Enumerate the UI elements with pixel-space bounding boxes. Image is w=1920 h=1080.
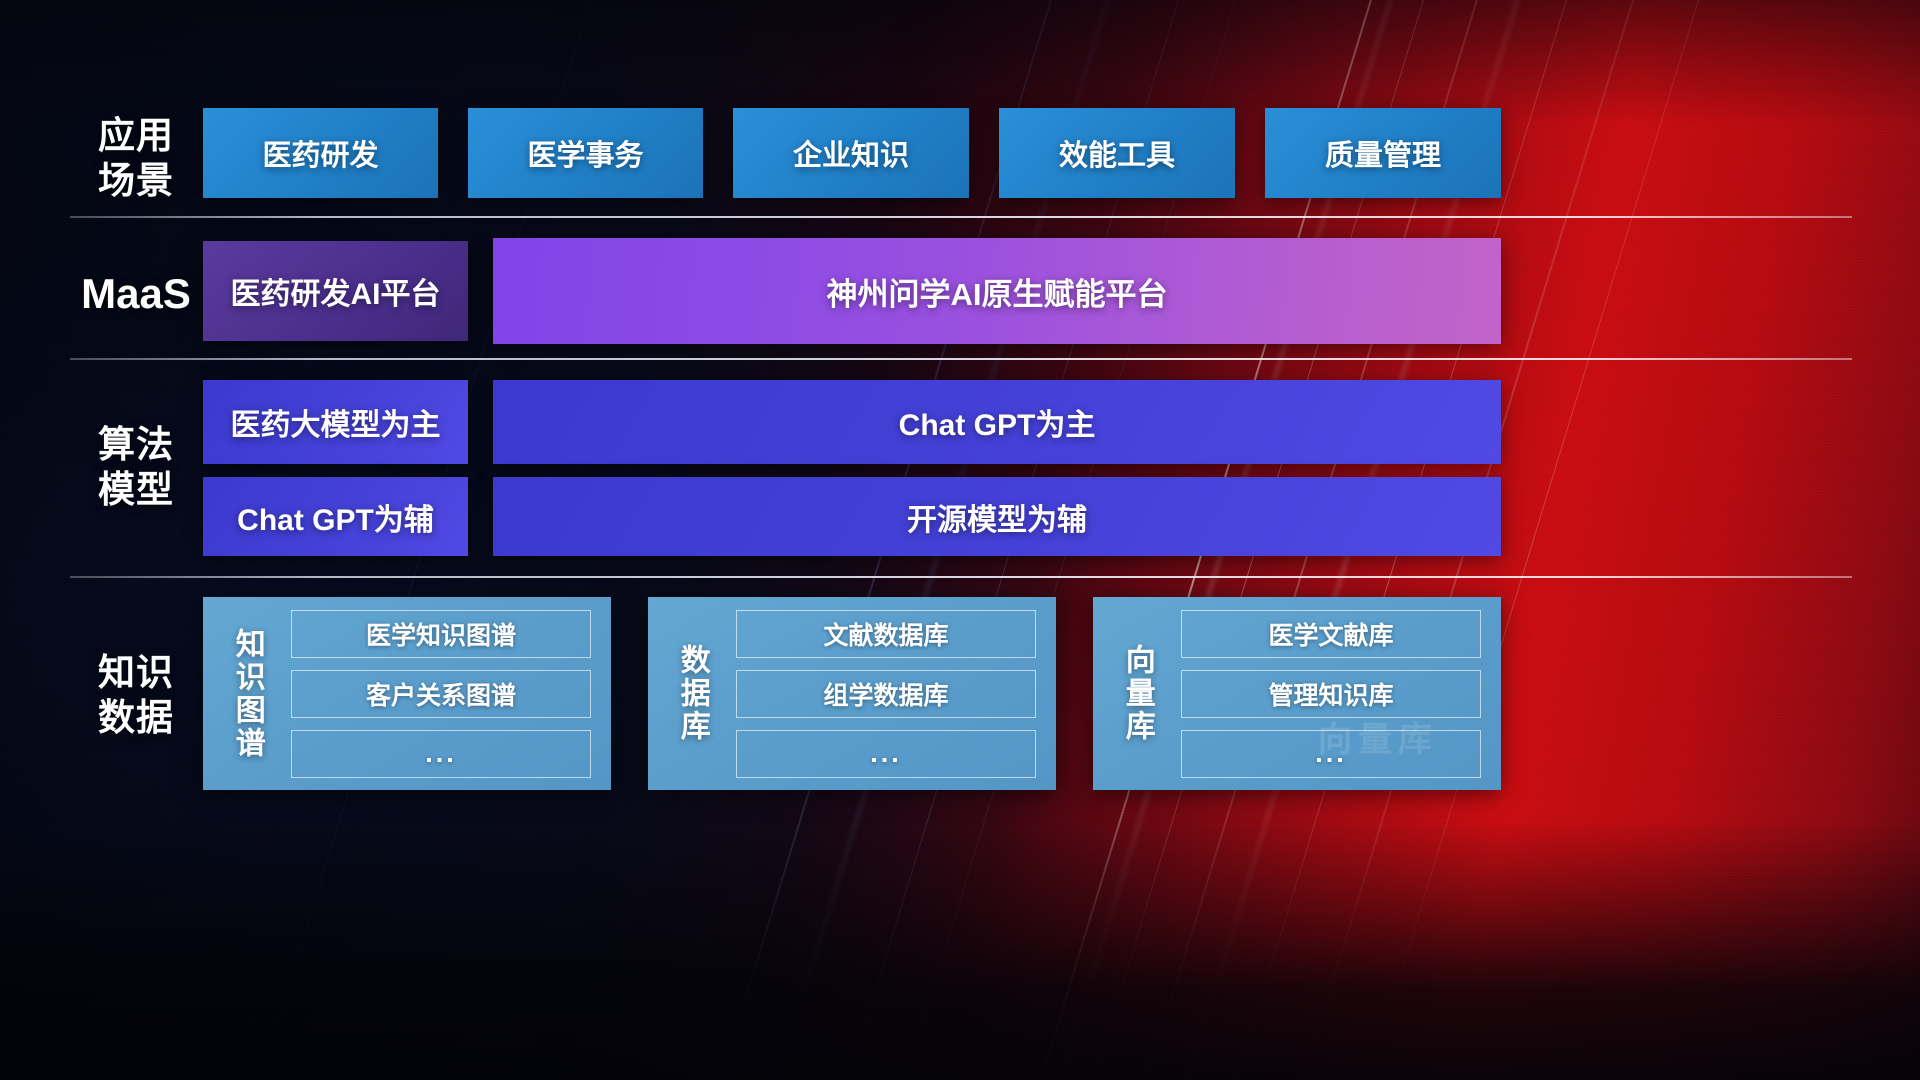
knowledge-item-list: 文献数据库 组学数据库 ... [736,598,1056,790]
row-label-algorithm: 算法 模型 [70,422,202,512]
knowledge-item-more[interactable]: ... [1181,730,1481,778]
knowledge-group-database[interactable]: 数据库 文献数据库 组学数据库 ... [648,597,1056,790]
algorithm-box-chatgpt-primary[interactable]: Chat GPT为主 [493,380,1501,464]
knowledge-item[interactable]: 医学知识图谱 [291,610,591,658]
architecture-diagram: 应用 场景 医药研发 医学事务 企业知识 效能工具 质量管理 MaaS 医药研发… [0,0,1920,1080]
app-scenario-box-enterprise-knowledge[interactable]: 企业知识 [733,108,969,198]
knowledge-item[interactable]: 医学文献库 [1181,610,1481,658]
app-scenario-box-medical-affairs[interactable]: 医学事务 [468,108,703,198]
knowledge-item-more[interactable]: ... [736,730,1036,778]
divider-application-maas [70,216,1852,218]
knowledge-group-title: 数据库 [648,644,736,743]
knowledge-item[interactable]: 管理知识库 [1181,670,1481,718]
row-label-line: 知识 [70,650,202,695]
row-label-line: 应用 [70,113,202,158]
app-scenario-box-medicine-rd[interactable]: 医药研发 [203,108,438,198]
divider-algorithm-knowledge [70,576,1852,578]
algorithm-box-medicine-large-model-primary[interactable]: 医药大模型为主 [203,380,468,464]
knowledge-group-knowledge-graph[interactable]: 知识图谱 医学知识图谱 客户关系图谱 ... [203,597,611,790]
row-label-maas: MaaS [70,268,202,319]
knowledge-item[interactable]: 客户关系图谱 [291,670,591,718]
row-label-line: 算法 [70,422,202,467]
maas-box-medicine-rd-ai-platform[interactable]: 医药研发AI平台 [203,241,468,341]
knowledge-group-title: 知识图谱 [203,628,291,760]
knowledge-item[interactable]: 文献数据库 [736,610,1036,658]
knowledge-group-title: 向量库 [1093,644,1181,743]
knowledge-item-more[interactable]: ... [291,730,591,778]
row-label-line: 模型 [70,467,202,512]
knowledge-item[interactable]: 组学数据库 [736,670,1036,718]
row-label-application: 应用 场景 [70,113,202,203]
knowledge-group-vector-store[interactable]: 向量库 医学文献库 管理知识库 ... [1093,597,1501,790]
app-scenario-box-quality-management[interactable]: 质量管理 [1265,108,1501,198]
knowledge-item-list: 医学知识图谱 客户关系图谱 ... [291,598,611,790]
row-label-line: 数据 [70,695,202,740]
algorithm-box-opensource-model-auxiliary[interactable]: 开源模型为辅 [493,477,1501,556]
knowledge-item-list: 医学文献库 管理知识库 ... [1181,598,1501,790]
maas-box-shenzhou-wenxue-platform[interactable]: 神州问学AI原生赋能平台 [493,238,1501,344]
app-scenario-box-efficiency-tools[interactable]: 效能工具 [999,108,1235,198]
algorithm-box-chatgpt-auxiliary[interactable]: Chat GPT为辅 [203,477,468,556]
divider-maas-algorithm [70,358,1852,360]
row-label-line: 场景 [70,158,202,203]
row-label-knowledge: 知识 数据 [70,650,202,740]
